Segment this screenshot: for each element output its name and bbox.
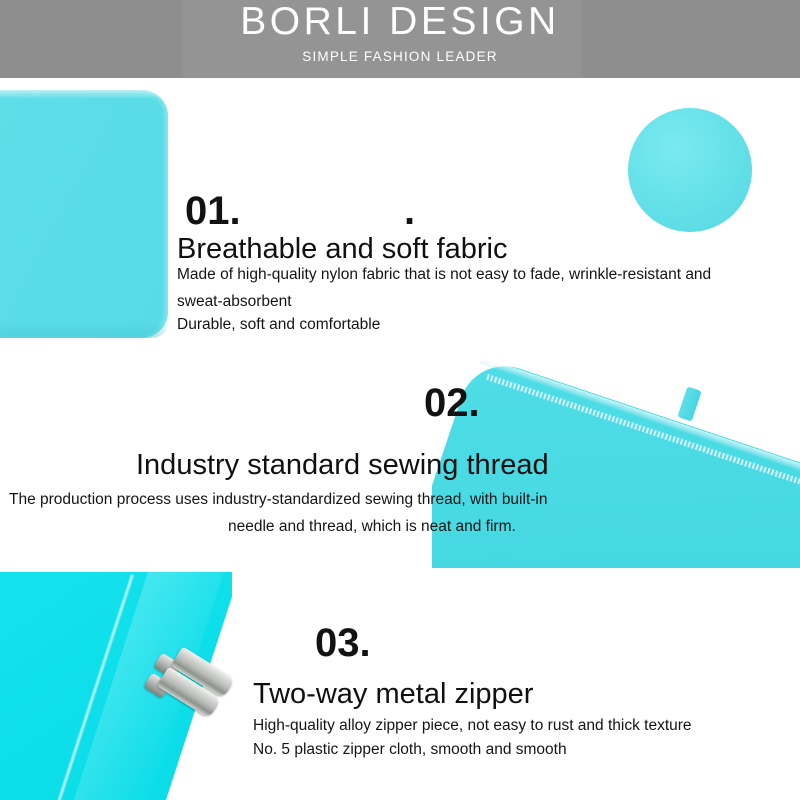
feature-number-02: 02. — [424, 382, 480, 424]
sleeve-corner-zipper-stop — [677, 386, 701, 421]
feature-headline-03: Two-way metal zipper — [253, 677, 533, 711]
feature-body-02-line-2: needle and thread, which is neat and fir… — [228, 513, 516, 540]
sleeve-bottom-edge-shadow — [0, 322, 168, 338]
product-detail-page: BORLI DESIGN SIMPLE FASHION LEADER 01. .… — [0, 0, 800, 800]
feature-body-03-line-2: No. 5 plastic zipper cloth, smooth and s… — [253, 736, 567, 763]
feature-body-02-line-1: The production process uses industry-sta… — [9, 486, 547, 513]
feature-number-01: 01. — [185, 190, 241, 232]
brand-subtitle: SIMPLE FASHION LEADER — [0, 48, 800, 66]
laptop-sleeve-flat-image — [0, 90, 168, 338]
feature-number-03: 03. — [315, 622, 371, 664]
feature-body-01-line-1: Made of high-quality nylon fabric that i… — [177, 261, 711, 288]
brand-title: BORLI DESIGN — [0, 0, 800, 46]
feature-01-stray-dot: . — [404, 190, 415, 232]
fabric-color-swatch-circle — [628, 108, 752, 232]
feature-headline-02: Industry standard sewing thread — [136, 448, 549, 482]
feature-body-01-line-3: Durable, soft and comfortable — [177, 311, 380, 338]
feature-body-03-line-1: High-quality alloy zipper piece, not eas… — [253, 712, 692, 739]
sleeve-top-edge-highlight — [0, 90, 168, 99]
